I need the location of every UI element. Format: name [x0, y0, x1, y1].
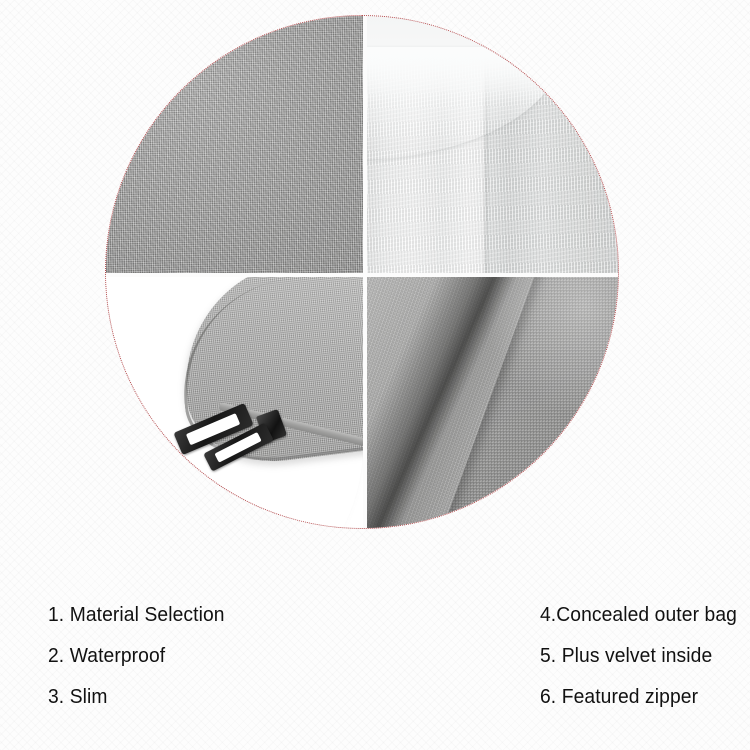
- quadrant-material-fabric: [106, 16, 363, 273]
- feature-item-4: 4.Concealed outer bag: [540, 594, 737, 635]
- feature-item-3: 3. Slim: [48, 676, 464, 717]
- feature-item-6: 6. Featured zipper: [540, 676, 737, 717]
- quadrant-zipper-detail: [106, 277, 363, 528]
- collage-disc: [106, 16, 618, 528]
- fabric-swatch-icon: [106, 16, 363, 273]
- feature-list: 1. Material Selection 2. Waterproof 3. S…: [0, 572, 750, 750]
- feature-item-2: 2. Waterproof: [48, 635, 464, 676]
- feature-item-1: 1. Material Selection: [48, 594, 464, 635]
- quadrant-concealed-pocket: [367, 277, 618, 528]
- circular-photo-collage: [105, 15, 619, 529]
- fabric-highlight: [472, 277, 618, 438]
- feature-item-5: 5. Plus velvet inside: [540, 635, 737, 676]
- product-feature-infographic: 1. Material Selection 2. Waterproof 3. S…: [0, 0, 750, 750]
- quadrant-velvet-lining: [367, 16, 618, 273]
